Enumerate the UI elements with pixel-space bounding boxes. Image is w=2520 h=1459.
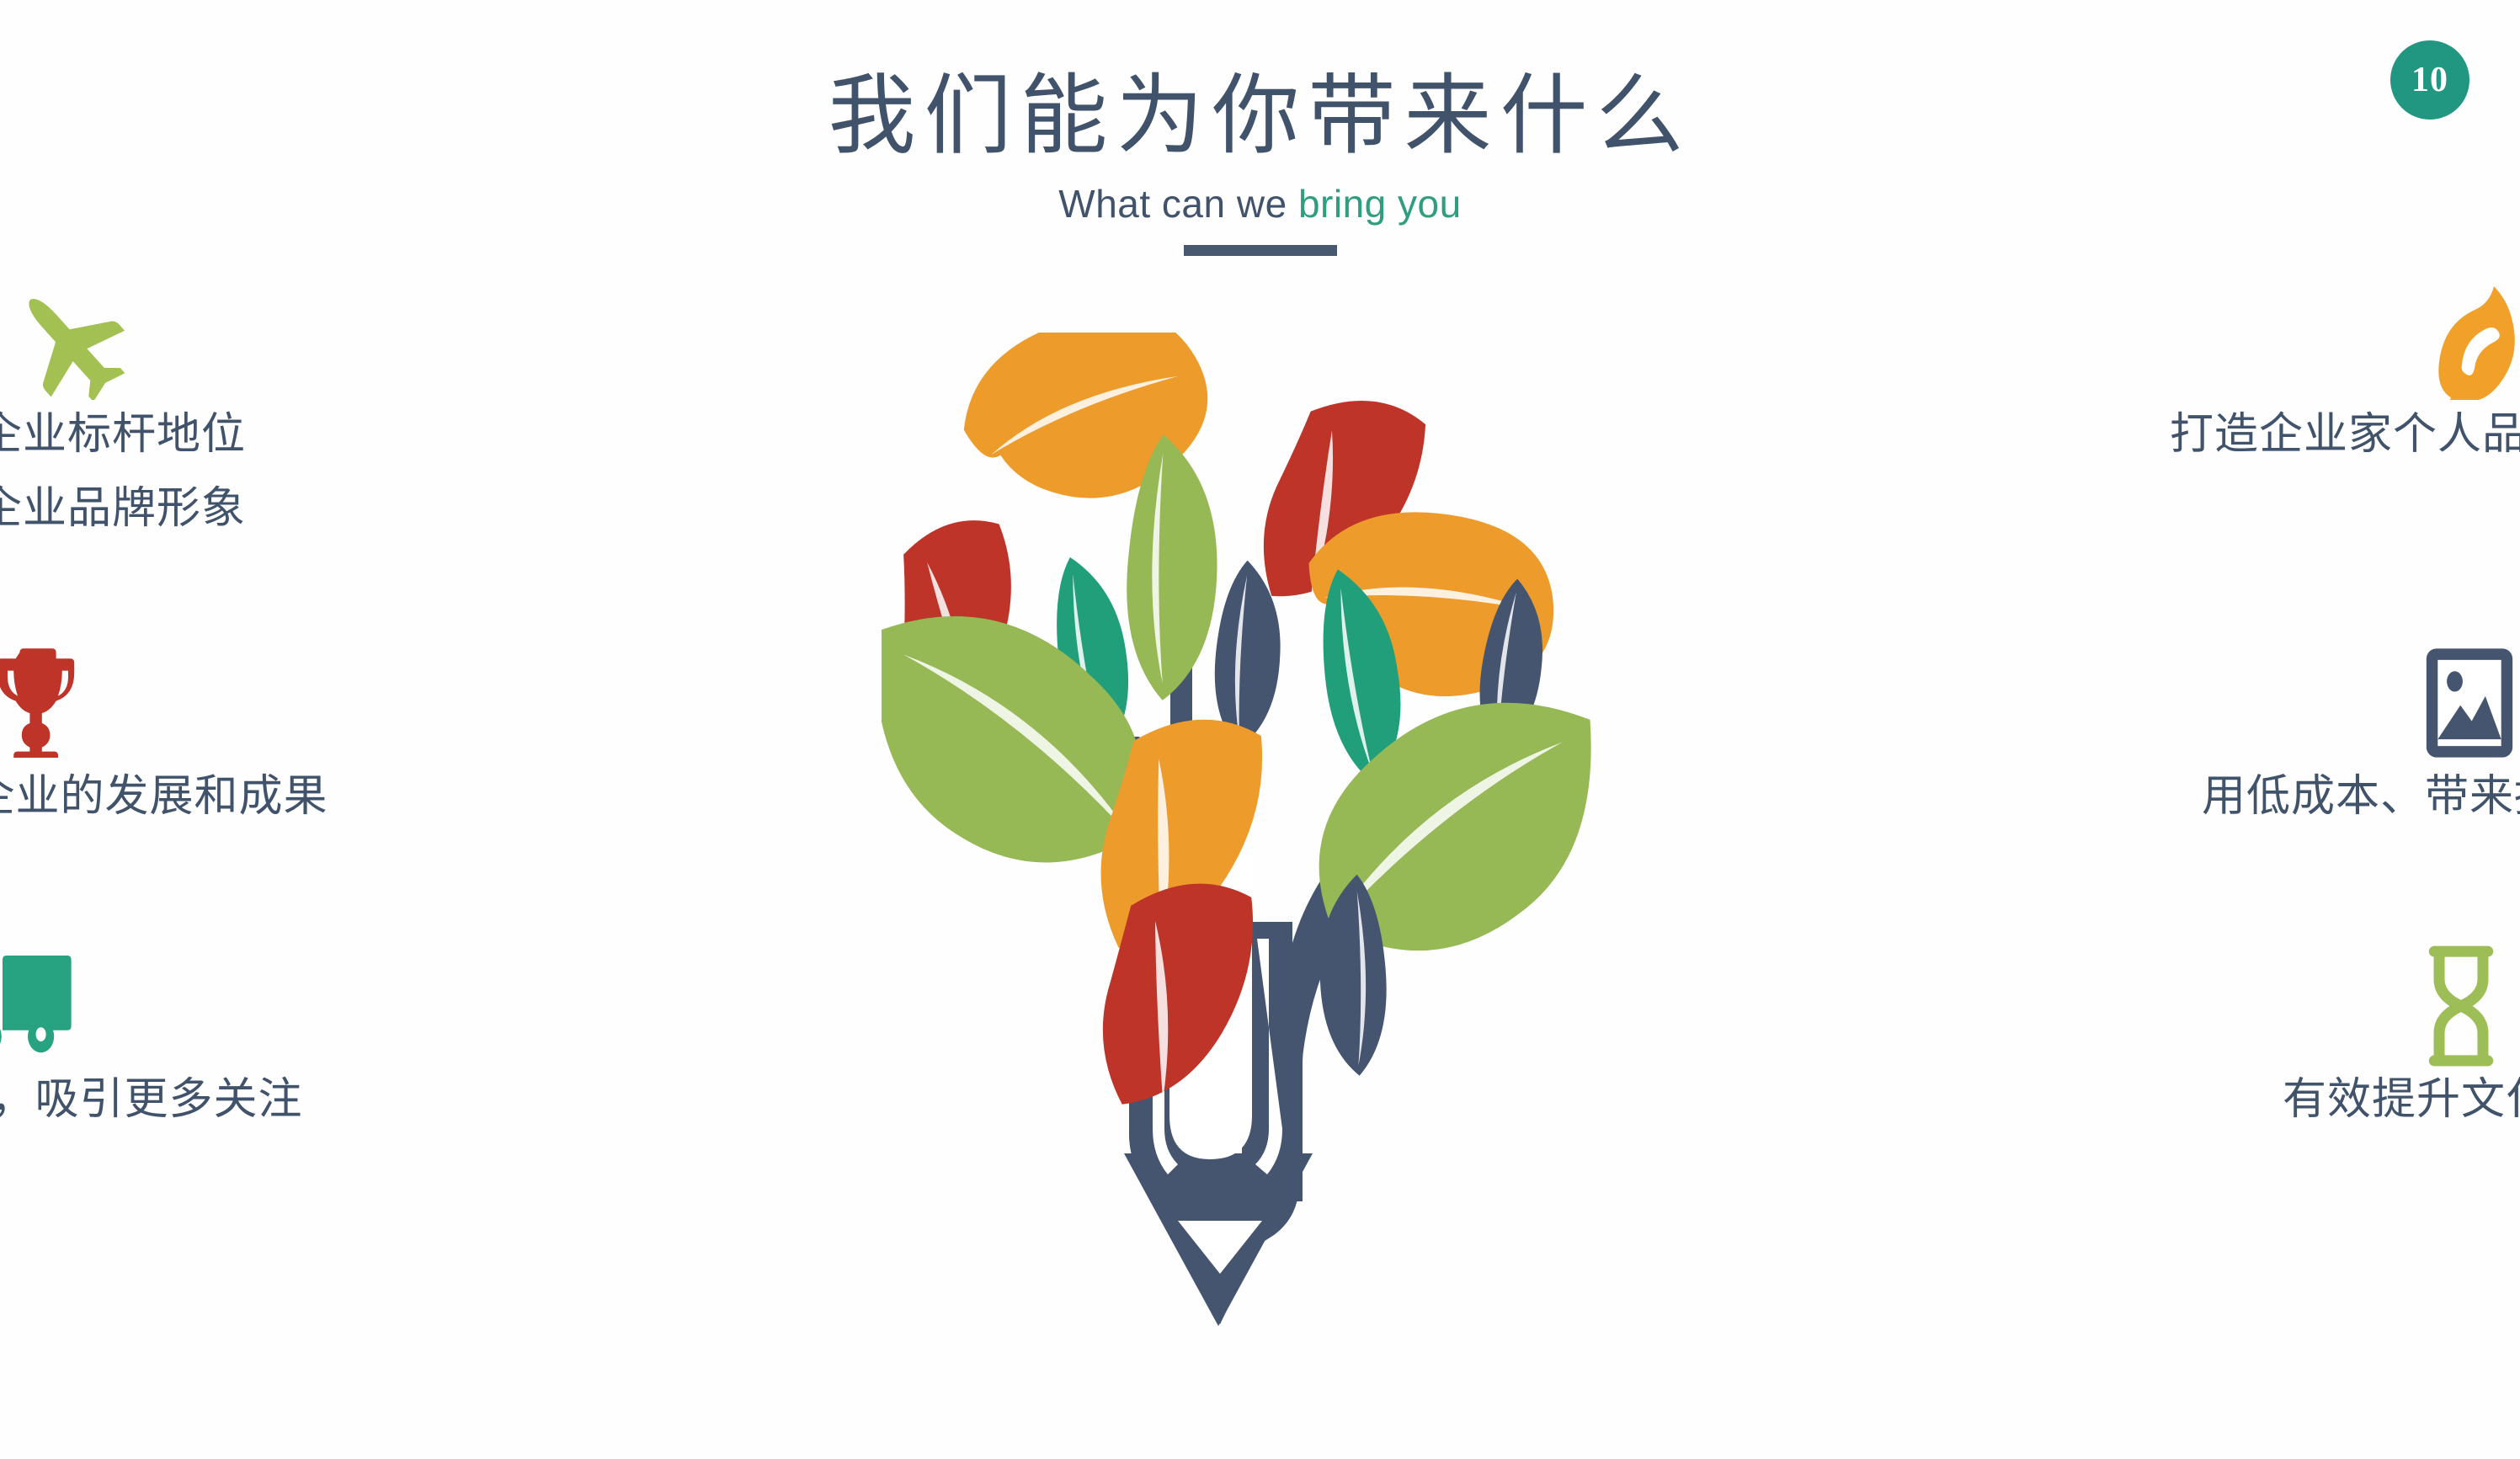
leaf-icon [2427,278,2520,404]
picture-icon-wrap[interactable]: 用低成本、带来持久影响力 [2048,640,2520,828]
feature-label: 形成光环效应，吸引更多关注 [0,1069,303,1132]
picture-icon [2419,640,2520,766]
page-number-badge: 10 [2390,40,2469,120]
feature-item[interactable]: 总结和反思企业的发展和成果 [0,640,459,828]
feature-label: 打造企业家个人品牌和提升名望 [2170,404,2520,466]
page-title: 我们能为你带来什么 [0,66,2520,169]
airplane-icon [8,278,126,404]
pencil-tree-illustration [882,333,1639,1343]
feature-label: 用低成本、带来持久影响力 [2202,766,2520,828]
hourglass-icon [2415,943,2507,1069]
feature-label: 总结和反思企业的发展和成果 [0,766,328,828]
right-feature-row-3: 有效提升文化层次 [1670,943,2512,1132]
title-underline-rule [1184,245,1337,256]
feature-label: 提升企业品牌形象 [0,478,246,540]
feature-item[interactable]: 树立企业标杆地位 提升企业品牌形象 [0,278,488,540]
truck-icon [0,943,76,1069]
right-feature-row-1: 打造企业家个人品牌和提升名望 [1670,278,2512,466]
feature-item[interactable]: 打造企业家个人品牌和提升名望 [2061,278,2520,466]
page-number-text: 10 [2411,60,2448,100]
right-feature-row-2: 用低成本、带来持久影响力 [1670,640,2512,828]
feature-label: 树立企业标杆地位 [0,404,246,466]
left-feature-row-1: 树立企业标杆地位 提升企业品牌形象 [8,278,850,540]
left-feature-row-2: 总结和反思企业的发展和成果 [8,640,850,828]
left-feature-row-3: 形成光环效应，吸引更多关注 [8,943,850,1132]
feature-label: 有效提升文化层次 [2283,1069,2520,1132]
feature-item[interactable]: 形成光环效应，吸引更多关注 [0,943,434,1132]
trophy-icon [0,640,88,766]
subtitle-plain: What can we [1058,182,1298,226]
subtitle-accent: bring you [1298,182,1462,226]
page-subtitle: What can we bring you [0,183,2520,226]
feature-item[interactable]: 有效提升文化层次 [2040,943,2520,1132]
slide-header: 我们能为你带来什么 What can we bring you [0,66,2520,256]
